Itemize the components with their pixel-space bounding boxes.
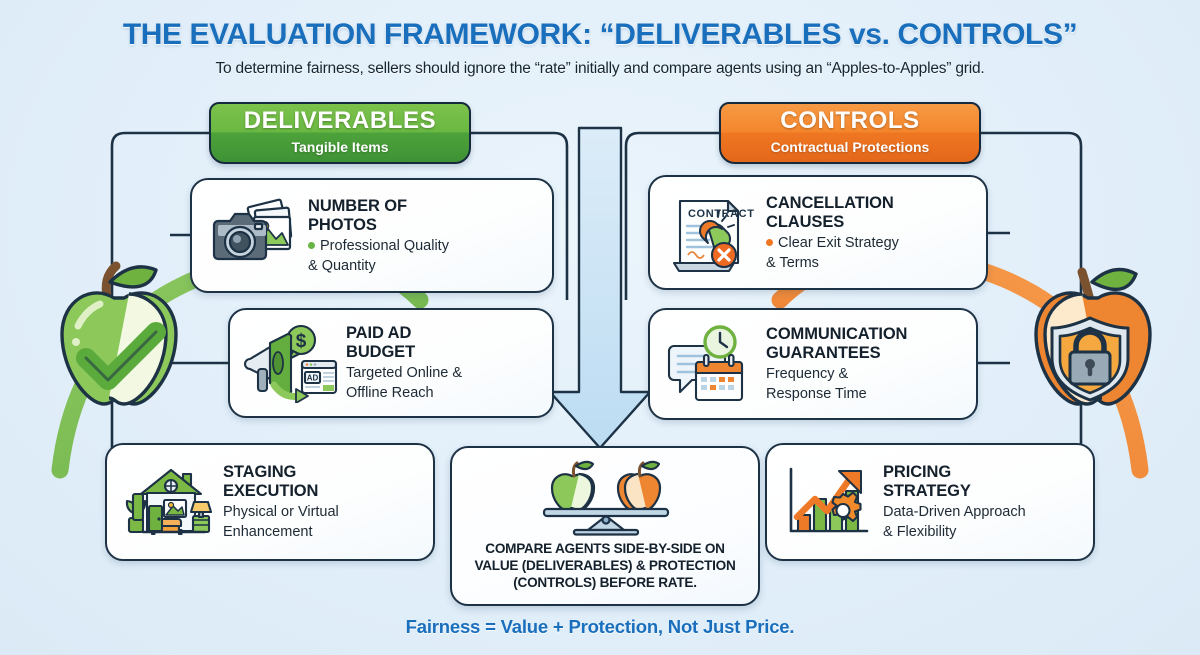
card-pricing-desc-line1: Data-Driven Approach <box>883 503 1083 521</box>
chat-clock-calendar-icon <box>660 324 764 404</box>
conclusion-text-line2: VALUE (DELIVERABLES) & PROTECTION <box>468 557 741 574</box>
card-photos-text: NUMBER OF PHOTOS Professional Quality & … <box>306 197 542 275</box>
card-pricing-desc-line2: & Flexibility <box>883 523 1083 541</box>
infographic-canvas: THE EVALUATION FRAMEWORK: “DELIVERABLES … <box>0 0 1200 655</box>
card-pricing-title-line1: PRICING <box>883 463 1083 482</box>
card-staging-title-line2: EXECUTION <box>223 482 423 501</box>
banner-deliverables-subtitle: Tangible Items <box>211 137 469 157</box>
card-staging-desc-line2: Enhancement <box>223 523 423 541</box>
staged-house-icon <box>117 460 221 544</box>
banner-controls-subtitle: Contractual Protections <box>721 137 979 157</box>
banner-controls[interactable]: CONTROLS Contractual Protections <box>719 102 981 164</box>
card-communication-title-line1: COMMUNICATION <box>766 325 966 344</box>
conclusion-box[interactable]: COMPARE AGENTS SIDE-BY-SIDE ON VALUE (DE… <box>450 446 760 606</box>
growth-chart-gear-icon <box>777 461 881 543</box>
footer-tagline: Fairness = Value + Protection, Not Just … <box>0 616 1200 638</box>
card-ads-desc-line1: Targeted Online & <box>346 364 542 382</box>
card-number-of-photos[interactable]: NUMBER OF PHOTOS Professional Quality & … <box>190 178 554 293</box>
card-paid-ad-budget[interactable]: $ AD <box>228 308 554 418</box>
card-communication-desc-line2: Response Time <box>766 385 966 403</box>
card-photos-title-line2: PHOTOS <box>308 216 542 235</box>
card-photos-desc-line2: & Quantity <box>308 257 542 275</box>
card-staging-desc-line1: Physical or Virtual <box>223 503 423 521</box>
banner-deliverables-title: DELIVERABLES <box>211 104 469 137</box>
banner-deliverables[interactable]: DELIVERABLES Tangible Items <box>209 102 471 164</box>
bullet-dot-icon <box>308 242 315 249</box>
svg-text:AD: AD <box>307 374 319 383</box>
green-apple-check-icon <box>16 252 216 462</box>
card-staging-text: STAGING EXECUTION Physical or Virtual En… <box>221 463 423 541</box>
banner-controls-title: CONTROLS <box>721 104 979 137</box>
svg-text:$: $ <box>296 331 307 352</box>
card-ads-text: PAID AD BUDGET Targeted Online & Offline… <box>344 324 542 402</box>
page-title: THE EVALUATION FRAMEWORK: “DELIVERABLES … <box>0 18 1200 52</box>
card-pricing-text: PRICING STRATEGY Data-Driven Approach & … <box>881 463 1083 541</box>
balance-scale-apples-icon <box>510 454 700 538</box>
conclusion-text-line3: (CONTROLS) BEFORE RATE. <box>507 574 703 591</box>
page-subtitle: To determine fairness, sellers should ig… <box>0 60 1200 78</box>
card-communication-title-line2: GUARANTEES <box>766 344 966 363</box>
contract-broken-link-icon: CONTRACT <box>660 191 764 275</box>
card-ads-desc-line2: Offline Reach <box>346 384 542 402</box>
card-photos-desc-line1: Professional Quality <box>308 237 542 255</box>
card-cancellation-text: CANCELLATION CLAUSES Clear Exit Strategy… <box>764 194 976 272</box>
megaphone-ad-icon: $ AD <box>240 323 344 403</box>
card-cancellation-title-line1: CANCELLATION <box>766 194 976 213</box>
card-cancellation-title-line2: CLAUSES <box>766 213 976 232</box>
down-arrow-icon <box>550 128 650 448</box>
card-communication-text: COMMUNICATION GUARANTEES Frequency & Res… <box>764 325 966 403</box>
card-pricing-title-line2: STRATEGY <box>883 482 1083 501</box>
camera-photos-icon <box>202 195 306 277</box>
orange-apple-shield-lock-icon <box>990 252 1190 462</box>
card-communication-guarantees[interactable]: COMMUNICATION GUARANTEES Frequency & Res… <box>648 308 978 420</box>
card-ads-title-line1: PAID AD <box>346 324 542 343</box>
card-photos-title-line1: NUMBER OF <box>308 197 542 216</box>
card-staging-title-line1: STAGING <box>223 463 423 482</box>
card-cancellation-desc-line2: & Terms <box>766 254 976 272</box>
card-ads-title-line2: BUDGET <box>346 343 542 362</box>
card-cancellation-clauses[interactable]: CONTRACT CANCELLATION CLAUSES Clear Exit… <box>648 175 988 290</box>
conclusion-text-line1: COMPARE AGENTS SIDE-BY-SIDE ON <box>479 540 730 557</box>
svg-text:CONTRACT: CONTRACT <box>688 208 755 220</box>
bullet-dot-icon <box>766 239 773 246</box>
card-cancellation-desc-line1: Clear Exit Strategy <box>766 234 976 252</box>
card-communication-desc-line1: Frequency & <box>766 365 966 383</box>
